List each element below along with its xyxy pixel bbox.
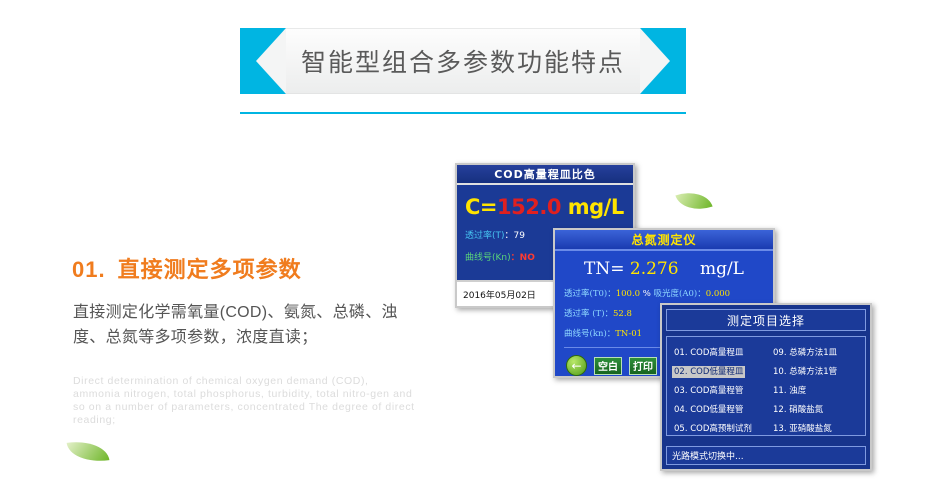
cod-curve-label: 曲线号(Kn): [465, 253, 511, 263]
list-item[interactable]: 03. COD高量程管: [672, 385, 745, 397]
page-root: 智能型组合多参数功能特点 01.直接测定多项参数 直接测定化学需氧量(COD)、…: [0, 0, 927, 492]
section-body-english: Direct determination of chemical oxygen …: [73, 375, 418, 427]
menu-column-right: 09. 总磷方法1皿 10. 总磷方法1管 11. 浊度 12. 硝酸盐氮 13…: [766, 340, 865, 435]
section-title-text: 直接测定多项参数: [118, 257, 302, 282]
tn-a0-label: 吸光度(A0)：: [654, 289, 706, 299]
status-bar: 光路模式切换中...: [666, 446, 866, 465]
cod-curve-value: NO: [520, 253, 535, 263]
list-item[interactable]: 04. COD低量程管: [672, 404, 745, 416]
cod-value-label: C=: [465, 195, 497, 219]
tn-reading: TN= 2.276 mg/L: [564, 259, 764, 279]
menu-column-left: 01. COD高量程皿 02. COD低量程皿 03. COD高量程管 04. …: [667, 340, 766, 435]
tn-curve-value: TN-01: [615, 329, 642, 339]
banner-center: 智能型组合多参数功能特点: [286, 28, 640, 94]
list-item[interactable]: 13. 亚硝酸盐氮: [771, 423, 834, 435]
section-number: 01.: [72, 257, 106, 282]
tn-value: 2.276: [630, 259, 679, 279]
list-item[interactable]: 02. COD低量程皿: [672, 366, 745, 378]
menu-item-list: 01. COD高量程皿 02. COD低量程皿 03. COD高量程管 04. …: [666, 336, 866, 436]
tn-t0-value: 100.0: [616, 289, 640, 299]
leaf-icon: [67, 437, 110, 465]
page-title: 智能型组合多参数功能特点: [301, 43, 625, 79]
chevron-left-icon: [240, 28, 286, 94]
list-item[interactable]: 10. 总磷方法1管: [771, 366, 839, 378]
cod-value: 152.0: [497, 195, 561, 219]
tn-unit: mg/L: [700, 259, 744, 279]
tn-value-label: TN=: [584, 259, 624, 279]
cod-window-title: COD高量程皿比色: [457, 165, 633, 185]
list-item[interactable]: 12. 硝酸盐氮: [771, 404, 825, 416]
chevron-right-icon: [640, 28, 686, 94]
list-item[interactable]: 09. 总磷方法1皿: [771, 347, 839, 359]
list-item[interactable]: 01. COD高量程皿: [672, 347, 745, 359]
blank-button[interactable]: 空白: [594, 357, 622, 375]
list-item[interactable]: 05. COD高预制试剂: [672, 423, 754, 435]
page-banner: 智能型组合多参数功能特点: [240, 28, 686, 94]
tn-t-label: 透过率 (T)：: [564, 309, 613, 319]
measurement-item-menu-window: 测定项目选择 01. COD高量程皿 02. COD低量程皿 03. COD高量…: [660, 303, 872, 471]
section-body-chinese: 直接测定化学需氧量(COD)、氨氮、总磷、浊度、总氮等多项参数，浓度直读；: [73, 300, 403, 350]
tn-window-title: 总氮测定仪: [555, 230, 773, 251]
back-arrow-icon[interactable]: ←: [566, 355, 587, 376]
cod-transmittance-label: 透过率(T): [465, 231, 505, 241]
cod-reading: C=152.0 mg/L: [465, 195, 625, 219]
tn-t0-unit: %: [643, 289, 651, 299]
tn-t-value: 52.8: [613, 309, 632, 319]
tn-a0-value: 0.000: [706, 289, 730, 299]
tn-curve-label: 曲线号(kn)：: [564, 329, 615, 339]
cod-unit: mg/L: [568, 195, 624, 219]
print-button[interactable]: 打印: [629, 357, 657, 375]
banner-divider: [240, 112, 686, 114]
section-heading: 01.直接测定多项参数: [72, 252, 302, 284]
tn-t0-label: 透过率(T0)：: [564, 289, 616, 299]
tn-transmittance0-row: 透过率(T0)：100.0 % 吸光度(A0)：0.000: [564, 287, 764, 299]
cod-transmittance-value: 79: [514, 231, 525, 241]
list-item[interactable]: 11. 浊度: [771, 385, 808, 397]
leaf-icon: [675, 186, 712, 217]
menu-title: 测定项目选择: [666, 309, 866, 331]
